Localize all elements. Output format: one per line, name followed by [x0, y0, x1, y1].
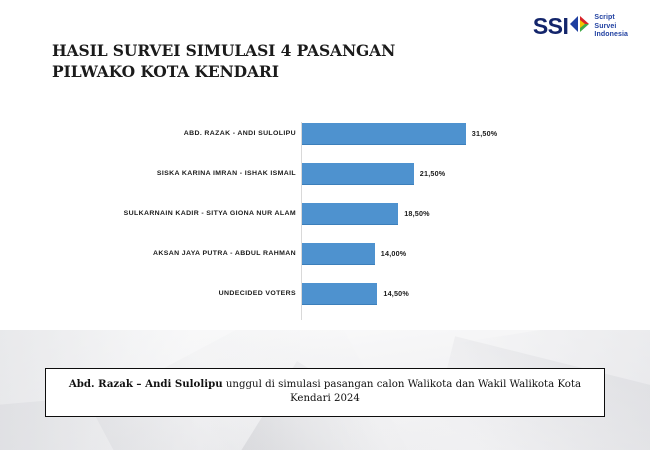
- chart-bar[interactable]: [302, 163, 414, 185]
- chart-bar-group: 21,50%: [302, 162, 445, 186]
- logo-word-line1: Script: [594, 14, 614, 21]
- chart-data-label: 14,00%: [381, 250, 407, 257]
- chart-category-label: SISKA KARINA IMRAN - ISHAK ISMAIL: [0, 171, 296, 178]
- chart-bar[interactable]: [302, 283, 377, 305]
- chart-category-label: AKSAN JAYA PUTRA - ABDUL RAHMAN: [0, 251, 296, 258]
- chart-bar-group: 14,00%: [302, 242, 406, 266]
- logo-wordmark: Script Survei Indonesia: [594, 14, 628, 40]
- chart-category-label: SULKARNAIN KADIR - SITYA GIONA NUR ALAM: [0, 211, 296, 218]
- survey-bar-chart: ABD. RAZAK - ANDI SULOLIPU31,50%SISKA KA…: [0, 108, 650, 330]
- chart-bar[interactable]: [302, 123, 466, 145]
- chart-data-label: 21,50%: [420, 170, 446, 177]
- chart-row: UNDECIDED VOTERS14,50%: [0, 282, 650, 306]
- chart-category-label: UNDECIDED VOTERS: [0, 291, 296, 298]
- page-title: HASIL SURVEI SIMULASI 4 PASANGAN PILWAKO…: [52, 41, 482, 83]
- chart-bar[interactable]: [302, 203, 398, 225]
- slide-canvas: SSI Script Survei Indonesia HASIL SURVEI…: [0, 0, 650, 450]
- chart-row: SULKARNAIN KADIR - SITYA GIONA NUR ALAM1…: [0, 202, 650, 226]
- caption-highlight: Abd. Razak – Andi Sulolipu: [69, 378, 223, 390]
- chart-bar-group: 31,50%: [302, 122, 497, 146]
- chart-data-label: 18,50%: [404, 210, 430, 217]
- chart-data-label: 14,50%: [383, 290, 409, 297]
- chart-category-label: ABD. RAZAK - ANDI SULOLIPU: [0, 131, 296, 138]
- chart-data-label: 31,50%: [472, 130, 498, 137]
- chart-bar-group: 18,50%: [302, 202, 430, 226]
- caption-text: unggul di simulasi pasangan calon Waliko…: [223, 379, 581, 404]
- logo-arrow-icon: [569, 14, 591, 39]
- chart-row: SISKA KARINA IMRAN - ISHAK ISMAIL21,50%: [0, 162, 650, 186]
- chart-row: AKSAN JAYA PUTRA - ABDUL RAHMAN14,00%: [0, 242, 650, 266]
- chart-bar[interactable]: [302, 243, 375, 265]
- chart-row: ABD. RAZAK - ANDI SULOLIPU31,50%: [0, 122, 650, 146]
- logo-word-line3: Indonesia: [594, 31, 628, 38]
- ssi-logo: SSI Script Survei Indonesia: [533, 14, 628, 40]
- logo-word-line2: Survei: [594, 23, 616, 30]
- chart-bar-group: 14,50%: [302, 282, 409, 306]
- caption-box: Abd. Razak – Andi Sulolipu unggul di sim…: [45, 368, 605, 417]
- page-title-line-1: HASIL SURVEI SIMULASI 4 PASANGAN: [52, 41, 482, 62]
- logo-acronym: SSI: [533, 15, 569, 38]
- page-title-line-2: PILWAKO KOTA KENDARI: [52, 62, 482, 83]
- chart-plot-area: ABD. RAZAK - ANDI SULOLIPU31,50%SISKA KA…: [0, 108, 650, 330]
